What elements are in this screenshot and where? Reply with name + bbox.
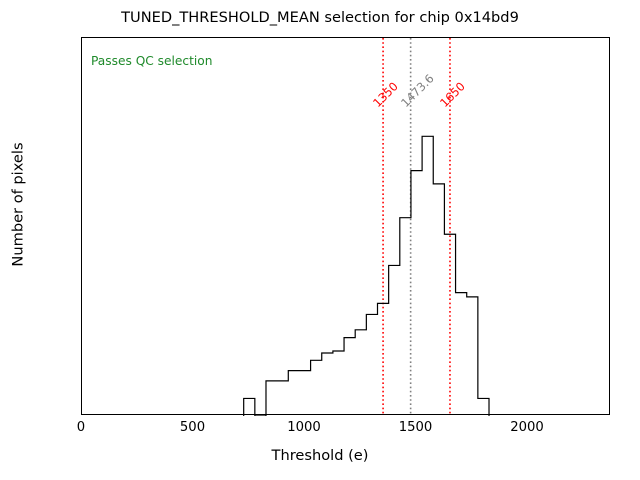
x-tick-label: 0 <box>77 420 85 435</box>
plot-area: Passes QC selection <box>81 37 610 415</box>
threshold-marker-lines <box>383 38 450 416</box>
y-axis-label: Number of pixels <box>10 45 27 365</box>
histogram-plot <box>82 38 611 416</box>
figure-canvas: TUNED_THRESHOLD_MEAN selection for chip … <box>0 0 640 480</box>
x-axis-label: Threshold (e) <box>0 447 640 464</box>
x-tick-label: 1500 <box>399 420 433 435</box>
histogram-step-curve <box>244 136 489 416</box>
axis-ticks <box>82 38 528 416</box>
x-tick-label: 500 <box>180 420 205 435</box>
x-tick-label: 2000 <box>510 420 544 435</box>
page-title: TUNED_THRESHOLD_MEAN selection for chip … <box>0 9 640 26</box>
x-tick-label: 1000 <box>287 420 321 435</box>
